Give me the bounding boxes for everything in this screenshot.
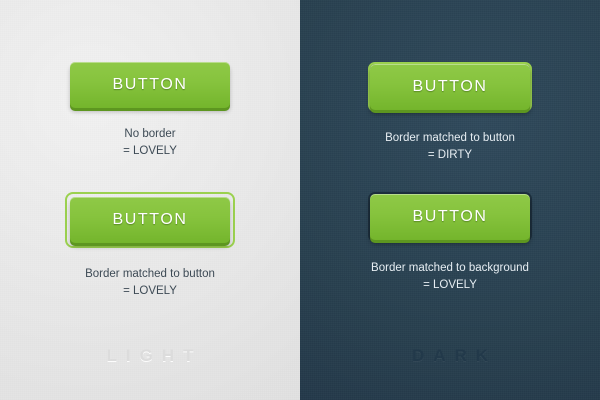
panel-label-light: LIGHT [0,346,300,366]
button-wrapper-border-background: BUTTON [368,192,532,242]
example-light-border-button: BUTTON Border matched to button = LOVELY [0,192,300,300]
caption-line-1: No border [124,128,175,140]
caption-line-1: Border matched to button [85,268,215,280]
button-dark-border-button[interactable]: BUTTON [370,64,530,110]
caption-line-2: = LOVELY [300,277,600,294]
panel-light: BUTTON No border = LOVELY BUTTON Border … [0,0,300,400]
example-dark-border-button: BUTTON Border matched to button = DIRTY [300,62,600,164]
button-dark-border-background[interactable]: BUTTON [370,194,530,240]
caption-line-1: Border matched to button [385,132,515,144]
caption-dark-border-background: Border matched to background = LOVELY [300,260,600,294]
caption-line-2: = DIRTY [300,147,600,164]
example-light-no-border: BUTTON No border = LOVELY [0,62,300,160]
panel-label-dark: DARK [300,346,600,366]
button-wrapper-no-border: BUTTON [70,62,230,108]
comparison-stage: BUTTON No border = LOVELY BUTTON Border … [0,0,600,400]
caption-light-border-button: Border matched to button = LOVELY [0,266,300,300]
button-light-border-button[interactable]: BUTTON [70,197,230,243]
example-dark-border-background: BUTTON Border matched to background = LO… [300,192,600,294]
caption-line-1: Border matched to background [371,262,529,274]
caption-line-2: = LOVELY [0,143,300,160]
panel-dark: BUTTON Border matched to button = DIRTY … [300,0,600,400]
caption-light-no-border: No border = LOVELY [0,126,300,160]
caption-dark-border-button: Border matched to button = DIRTY [300,130,600,164]
button-light-no-border[interactable]: BUTTON [70,62,230,108]
caption-line-2: = LOVELY [0,283,300,300]
button-wrapper-border-button: BUTTON [368,62,532,112]
button-wrapper-border-button: BUTTON [65,192,235,248]
